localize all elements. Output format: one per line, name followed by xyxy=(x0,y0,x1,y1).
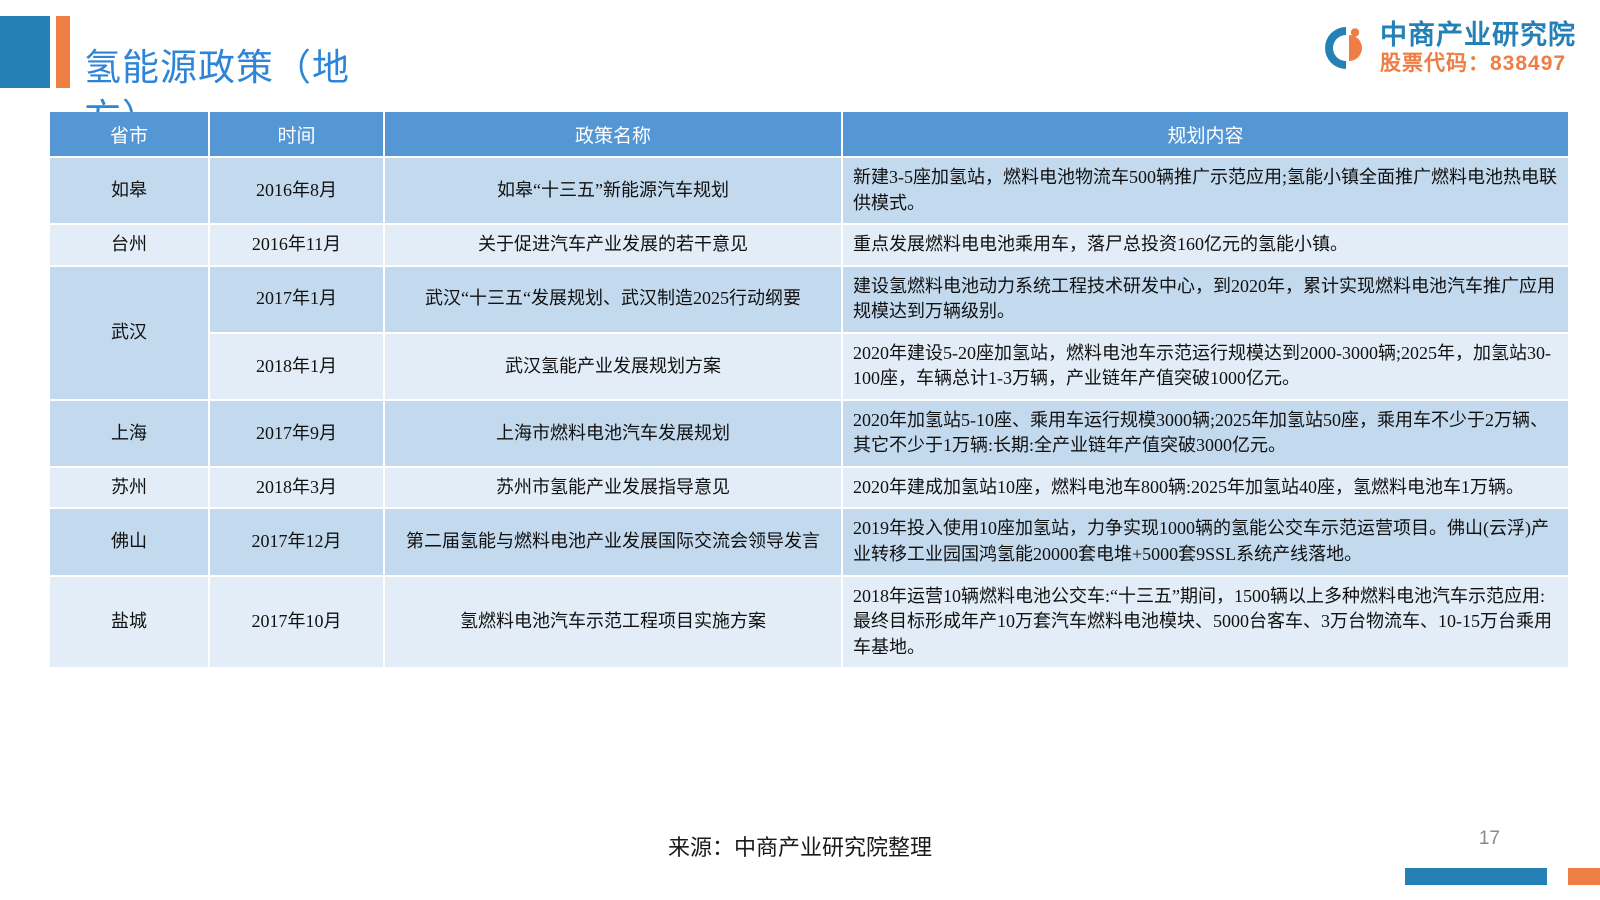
logo-company-name: 中商产业研究院 xyxy=(1380,22,1576,49)
page-number: 17 xyxy=(1479,828,1500,850)
cell-province: 台州 xyxy=(50,225,208,265)
cell-content: 2018年运营10辆燃料电池公交车:“十三五”期间，1500辆以上多种燃料电池汽… xyxy=(843,577,1568,668)
cell-time: 2018年3月 xyxy=(210,468,383,508)
local-hydrogen-policy-table: 省市 时间 政策名称 规划内容 如皋2016年8月如皋“十三五”新能源汽车规划新… xyxy=(48,110,1570,669)
table-row: 佛山2017年12月第二届氢能与燃料电池产业发展国际交流会领导发言2019年投入… xyxy=(50,509,1568,574)
cell-province: 苏州 xyxy=(50,468,208,508)
circle-c-logo-icon xyxy=(1322,24,1370,72)
cell-time: 2017年12月 xyxy=(210,509,383,574)
company-logo: 中商产业研究院 股票代码：838497 xyxy=(1322,22,1576,74)
cell-content: 2020年建设5-20座加氢站，燃料电池车示范运行规模达到2000-3000辆;… xyxy=(843,334,1568,399)
table-row: 盐城2017年10月氢燃料电池汽车示范工程项目实施方案2018年运营10辆燃料电… xyxy=(50,577,1568,668)
column-header-content: 规划内容 xyxy=(843,112,1568,156)
cell-province: 盐城 xyxy=(50,577,208,668)
table-row: 武汉2017年1月武汉“十三五“发展规划、武汉制造2025行动纲要建设氢燃料电池… xyxy=(50,267,1568,332)
cell-content: 2020年建成加氢站10座，燃料电池车800辆:2025年加氢站40座，氢燃料电… xyxy=(843,468,1568,508)
cell-time: 2017年1月 xyxy=(210,267,383,332)
cell-province: 佛山 xyxy=(50,509,208,574)
table-row: 台州2016年11月关于促进汽车产业发展的若干意见重点发展燃料电电池乘用车，落尸… xyxy=(50,225,1568,265)
cell-policy-name: 武汉“十三五“发展规划、武汉制造2025行动纲要 xyxy=(385,267,841,332)
title-decoration-bar-orange xyxy=(56,16,70,88)
column-header-province: 省市 xyxy=(50,112,208,156)
source-note: 来源：中商产业研究院整理 xyxy=(0,830,1600,862)
title-decoration-bar-blue xyxy=(0,16,50,88)
table-row: 上海2017年9月上海市燃料电池汽车发展规划2020年加氢站5-10座、乘用车运… xyxy=(50,401,1568,466)
logo-stock-code: 股票代码：838497 xyxy=(1380,53,1576,74)
table-row: 苏州2018年3月苏州市氢能产业发展指导意见2020年建成加氢站10座，燃料电池… xyxy=(50,468,1568,508)
table-row: 如皋2016年8月如皋“十三五”新能源汽车规划新建3-5座加氢站，燃料电池物流车… xyxy=(50,158,1568,223)
cell-content: 重点发展燃料电电池乘用车，落尸总投资160亿元的氢能小镇。 xyxy=(843,225,1568,265)
cell-time: 2017年9月 xyxy=(210,401,383,466)
column-header-time: 时间 xyxy=(210,112,383,156)
cell-policy-name: 上海市燃料电池汽车发展规划 xyxy=(385,401,841,466)
cell-content: 新建3-5座加氢站，燃料电池物流车500辆推广示范应用;氢能小镇全面推广燃料电池… xyxy=(843,158,1568,223)
cell-content: 2019年投入使用10座加氢站，力争实现1000辆的氢能公交车示范运营项目。佛山… xyxy=(843,509,1568,574)
cell-content: 2020年加氢站5-10座、乘用车运行规模3000辆;2025年加氢站50座，乘… xyxy=(843,401,1568,466)
table-row: 2018年1月武汉氢能产业发展规划方案2020年建设5-20座加氢站，燃料电池车… xyxy=(50,334,1568,399)
cell-province: 武汉 xyxy=(50,267,208,399)
cell-policy-name: 如皋“十三五”新能源汽车规划 xyxy=(385,158,841,223)
cell-time: 2016年11月 xyxy=(210,225,383,265)
cell-time: 2016年8月 xyxy=(210,158,383,223)
cell-policy-name: 第二届氢能与燃料电池产业发展国际交流会领导发言 xyxy=(385,509,841,574)
cell-time: 2018年1月 xyxy=(210,334,383,399)
column-header-policy-name: 政策名称 xyxy=(385,112,841,156)
cell-content: 建设氢燃料电池动力系统工程技术研发中心，到2020年，累计实现燃料电池汽车推广应… xyxy=(843,267,1568,332)
cell-policy-name: 苏州市氢能产业发展指导意见 xyxy=(385,468,841,508)
cell-policy-name: 武汉氢能产业发展规划方案 xyxy=(385,334,841,399)
cell-province: 如皋 xyxy=(50,158,208,223)
cell-policy-name: 关于促进汽车产业发展的若干意见 xyxy=(385,225,841,265)
cell-province: 上海 xyxy=(50,401,208,466)
cell-time: 2017年10月 xyxy=(210,577,383,668)
footer-decoration-bar-blue xyxy=(1405,868,1547,885)
cell-policy-name: 氢燃料电池汽车示范工程项目实施方案 xyxy=(385,577,841,668)
table-header-row: 省市 时间 政策名称 规划内容 xyxy=(50,112,1568,156)
footer-decoration-bar-orange xyxy=(1568,868,1600,885)
